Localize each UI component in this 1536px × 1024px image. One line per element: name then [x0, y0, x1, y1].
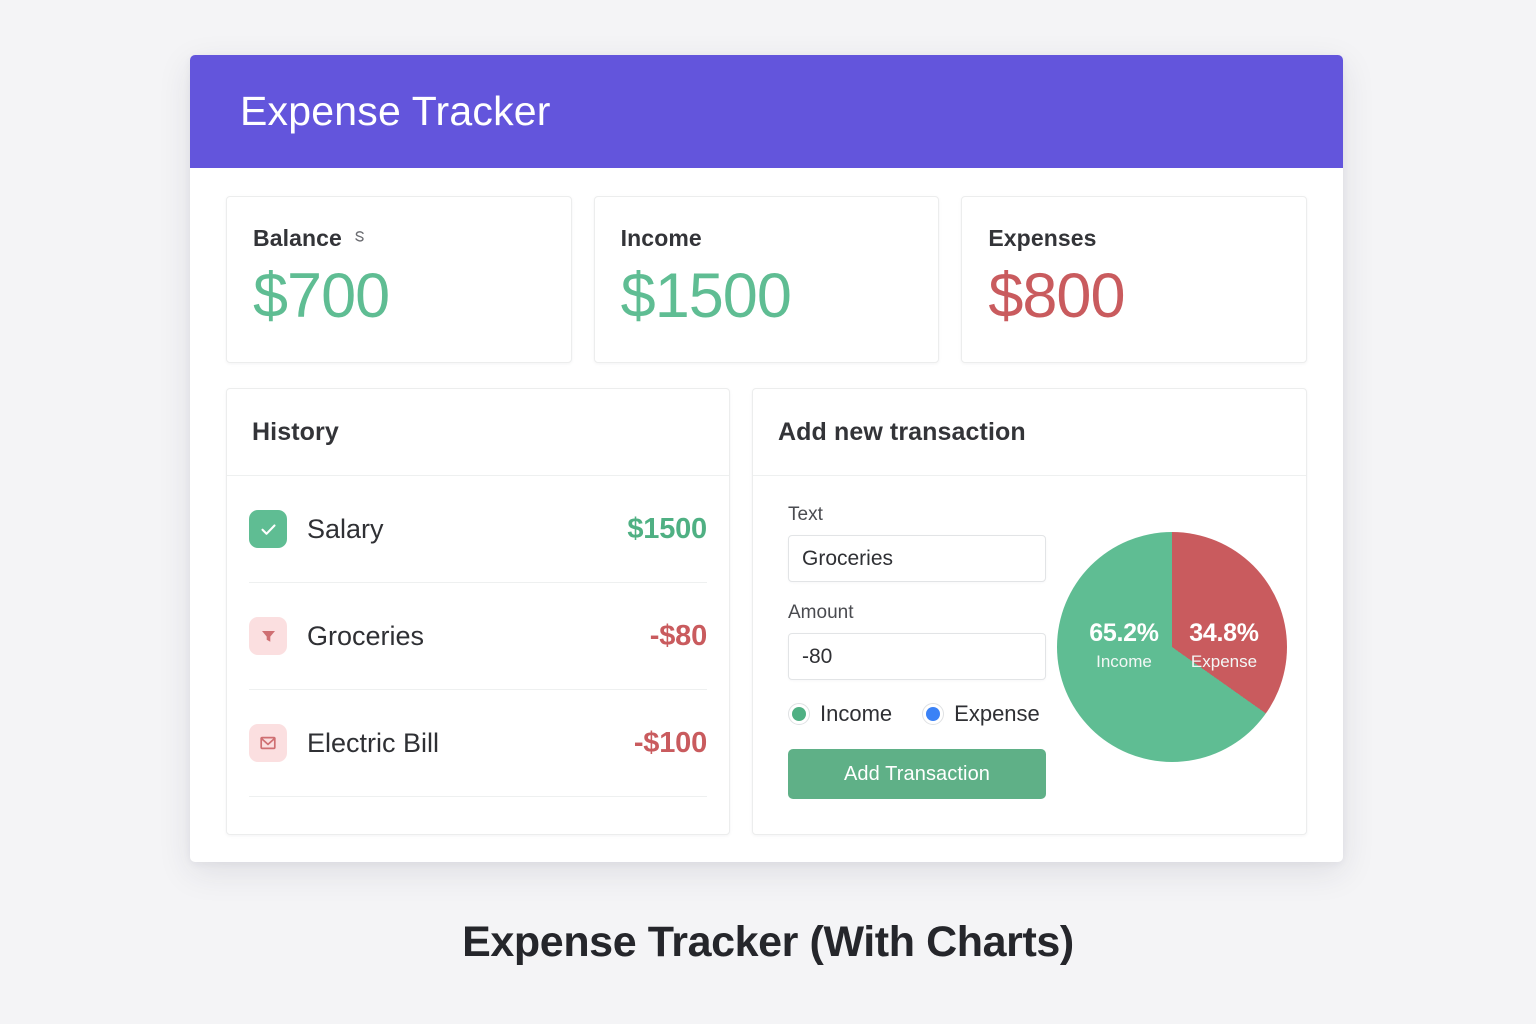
history-list: Salary $1500 Groceries -$80: [227, 476, 729, 797]
balance-label: Balance: [253, 225, 342, 252]
pie-label-expense: 34.8% Expense: [1169, 621, 1279, 670]
history-panel: History Salary $1500: [226, 388, 730, 835]
app-body: Balance $700 Income $1500 Expenses: [190, 168, 1343, 835]
history-item-amount: -$100: [634, 727, 707, 760]
history-item-amount: $1500: [627, 513, 707, 546]
income-value: $1500: [621, 262, 913, 330]
balance-label-row: Balance: [253, 225, 545, 252]
income-label: Income: [621, 225, 702, 252]
add-transaction-header: Add new transaction: [753, 389, 1306, 476]
history-item-label: Groceries: [307, 621, 650, 652]
history-item-electric-bill[interactable]: Electric Bill -$100: [249, 690, 707, 797]
app-title: Expense Tracker: [240, 88, 551, 135]
field-spacer: [788, 582, 1046, 602]
currency-icon: [351, 229, 368, 248]
balance-value: $700: [253, 262, 545, 330]
radio-income-dot[interactable]: [788, 703, 810, 725]
pie-expense-name: Expense: [1169, 653, 1279, 670]
amount-field-label: Amount: [788, 602, 1046, 624]
expenses-card: Expenses $800: [961, 196, 1307, 363]
form-fields: Text Amount Income Exp: [788, 504, 1046, 835]
history-item-label: Electric Bill: [307, 728, 634, 759]
check-icon: [249, 510, 287, 548]
expenses-label-row: Expenses: [988, 225, 1280, 252]
pie-expense-percent: 34.8%: [1169, 621, 1279, 646]
history-title: History: [252, 418, 339, 447]
pie-income-percent: 65.2%: [1069, 621, 1179, 646]
add-transaction-title: Add new transaction: [778, 418, 1026, 447]
pie-label-income: 65.2% Income: [1069, 621, 1179, 670]
radio-expense-dot[interactable]: [922, 703, 944, 725]
radio-expense[interactable]: Expense: [922, 701, 1040, 727]
text-input[interactable]: [788, 535, 1046, 582]
history-item-salary[interactable]: Salary $1500: [249, 476, 707, 583]
expenses-value: $800: [988, 262, 1280, 330]
figure-caption: Expense Tracker (With Charts): [0, 918, 1536, 967]
radio-expense-label: Expense: [954, 701, 1040, 727]
summary-cards: Balance $700 Income $1500 Expenses: [226, 196, 1307, 363]
history-panel-header: History: [227, 389, 729, 476]
add-transaction-form: Text Amount Income Exp: [753, 476, 1306, 835]
add-transaction-button[interactable]: Add Transaction: [788, 749, 1046, 799]
pie-income-name: Income: [1069, 653, 1179, 670]
panels-row: History Salary $1500: [226, 388, 1307, 835]
text-field-label: Text: [788, 504, 1046, 526]
history-item-label: Salary: [307, 514, 627, 545]
filter-icon: [249, 617, 287, 655]
expense-tracker-window: Expense Tracker Balance $700 Income: [190, 55, 1343, 862]
expenses-label: Expenses: [988, 225, 1096, 252]
transaction-pie-chart: 65.2% Income 34.8% Expense: [1057, 532, 1287, 762]
transaction-type-radio-group: Income Expense: [788, 701, 1046, 727]
history-item-amount: -$80: [650, 620, 707, 653]
mail-icon: [249, 724, 287, 762]
radio-income[interactable]: Income: [788, 701, 892, 727]
app-header: Expense Tracker: [190, 55, 1343, 168]
history-item-groceries[interactable]: Groceries -$80: [249, 583, 707, 690]
amount-input[interactable]: [788, 633, 1046, 680]
income-card: Income $1500: [594, 196, 940, 363]
add-transaction-panel: Add new transaction Text Amount Income: [752, 388, 1307, 835]
income-label-row: Income: [621, 225, 913, 252]
radio-income-label: Income: [820, 701, 892, 727]
balance-card: Balance $700: [226, 196, 572, 363]
